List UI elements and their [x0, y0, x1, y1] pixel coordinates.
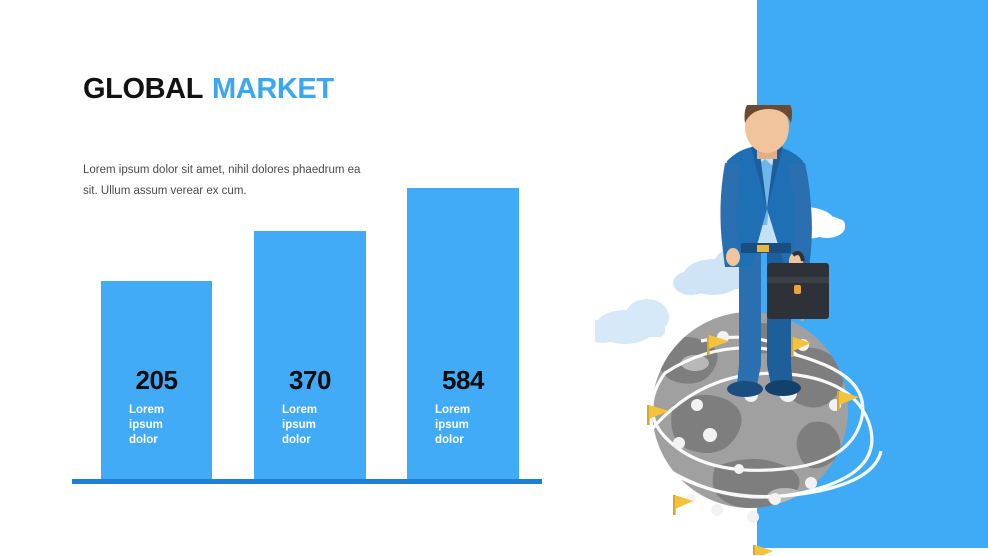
chart-baseline-axis	[72, 479, 542, 484]
bar-caption-2-line3: dolor	[282, 433, 317, 448]
bar-value-1: 205	[101, 365, 212, 396]
slide-canvas: GLOBALMARKET Lorem ipsum dolor sit amet,…	[0, 0, 988, 556]
bar-caption-2: Lorem ipsum dolor	[282, 403, 317, 448]
bar-caption-2-line1: Lorem	[282, 403, 317, 418]
bar-value-3: 584	[407, 365, 519, 396]
bar-caption-1-line3: dolor	[129, 433, 164, 448]
bar-caption-3-line3: dolor	[435, 433, 470, 448]
flag-pin-icon-4	[753, 545, 773, 555]
bar-caption-3: Lorem ipsum dolor	[435, 403, 470, 448]
bar-caption-3-line2: ipsum	[435, 418, 470, 433]
bar-chart: 205 Lorem ipsum dolor 370 Lorem ipsum do…	[0, 0, 600, 556]
cloud-icon-left	[595, 299, 669, 344]
belt-buckle	[757, 245, 769, 252]
hand-left	[726, 248, 740, 266]
bar-column-1: 205 Lorem ipsum dolor	[101, 281, 212, 480]
bar-caption-1-line1: Lorem	[129, 403, 164, 418]
bar-caption-3-line1: Lorem	[435, 403, 470, 418]
bar-caption-1-line2: ipsum	[129, 418, 164, 433]
shoe-right	[765, 380, 801, 396]
bar-caption-2-line2: ipsum	[282, 418, 317, 433]
leg-left	[737, 253, 761, 385]
bar-column-2: 370 Lorem ipsum dolor	[254, 231, 366, 480]
bar-caption-1: Lorem ipsum dolor	[129, 403, 164, 448]
businessman-on-globe-illustration	[595, 105, 895, 555]
bar-value-2: 370	[254, 365, 366, 396]
globe-icon	[645, 303, 881, 555]
shoe-left	[727, 381, 763, 397]
bar-column-3: 584 Lorem ipsum dolor	[407, 188, 519, 480]
